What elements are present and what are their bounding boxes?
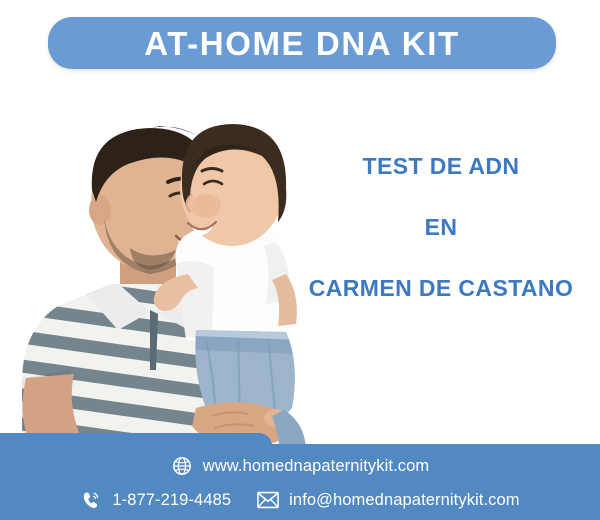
website-label: www.homednapaternitykit.com — [203, 458, 429, 475]
phone-icon — [80, 489, 102, 511]
promo-poster: AT-HOME DNA KIT — [0, 0, 600, 520]
headline-block: TEST DE ADN EN CARMEN DE CASTANO — [296, 155, 586, 300]
envelope-icon — [257, 489, 279, 511]
globe-icon — [171, 455, 193, 477]
banner-title: AT-HOME DNA KIT — [144, 27, 459, 60]
phone-contact[interactable]: 1-877-219-4485 — [80, 489, 231, 511]
headline-line-3: CARMEN DE CASTANO — [296, 277, 586, 300]
email-contact[interactable]: info@homednapaternitykit.com — [257, 489, 520, 511]
father-and-child-illustration — [0, 78, 345, 448]
headline-line-1: TEST DE ADN — [296, 155, 586, 178]
header-banner: AT-HOME DNA KIT — [48, 17, 556, 69]
contact-footer: www.homednapaternitykit.com 1-877-219-44… — [0, 444, 600, 520]
email-label: info@homednapaternitykit.com — [289, 492, 520, 509]
hero-photo — [0, 78, 345, 448]
footer-row-website: www.homednapaternitykit.com — [0, 444, 600, 482]
headline-line-2: EN — [296, 216, 586, 239]
website-contact[interactable]: www.homednapaternitykit.com — [171, 455, 429, 477]
phone-label: 1-877-219-4485 — [112, 492, 231, 509]
footer-row-phone-email: 1-877-219-4485 info@homednapaternitykit.… — [0, 482, 600, 516]
